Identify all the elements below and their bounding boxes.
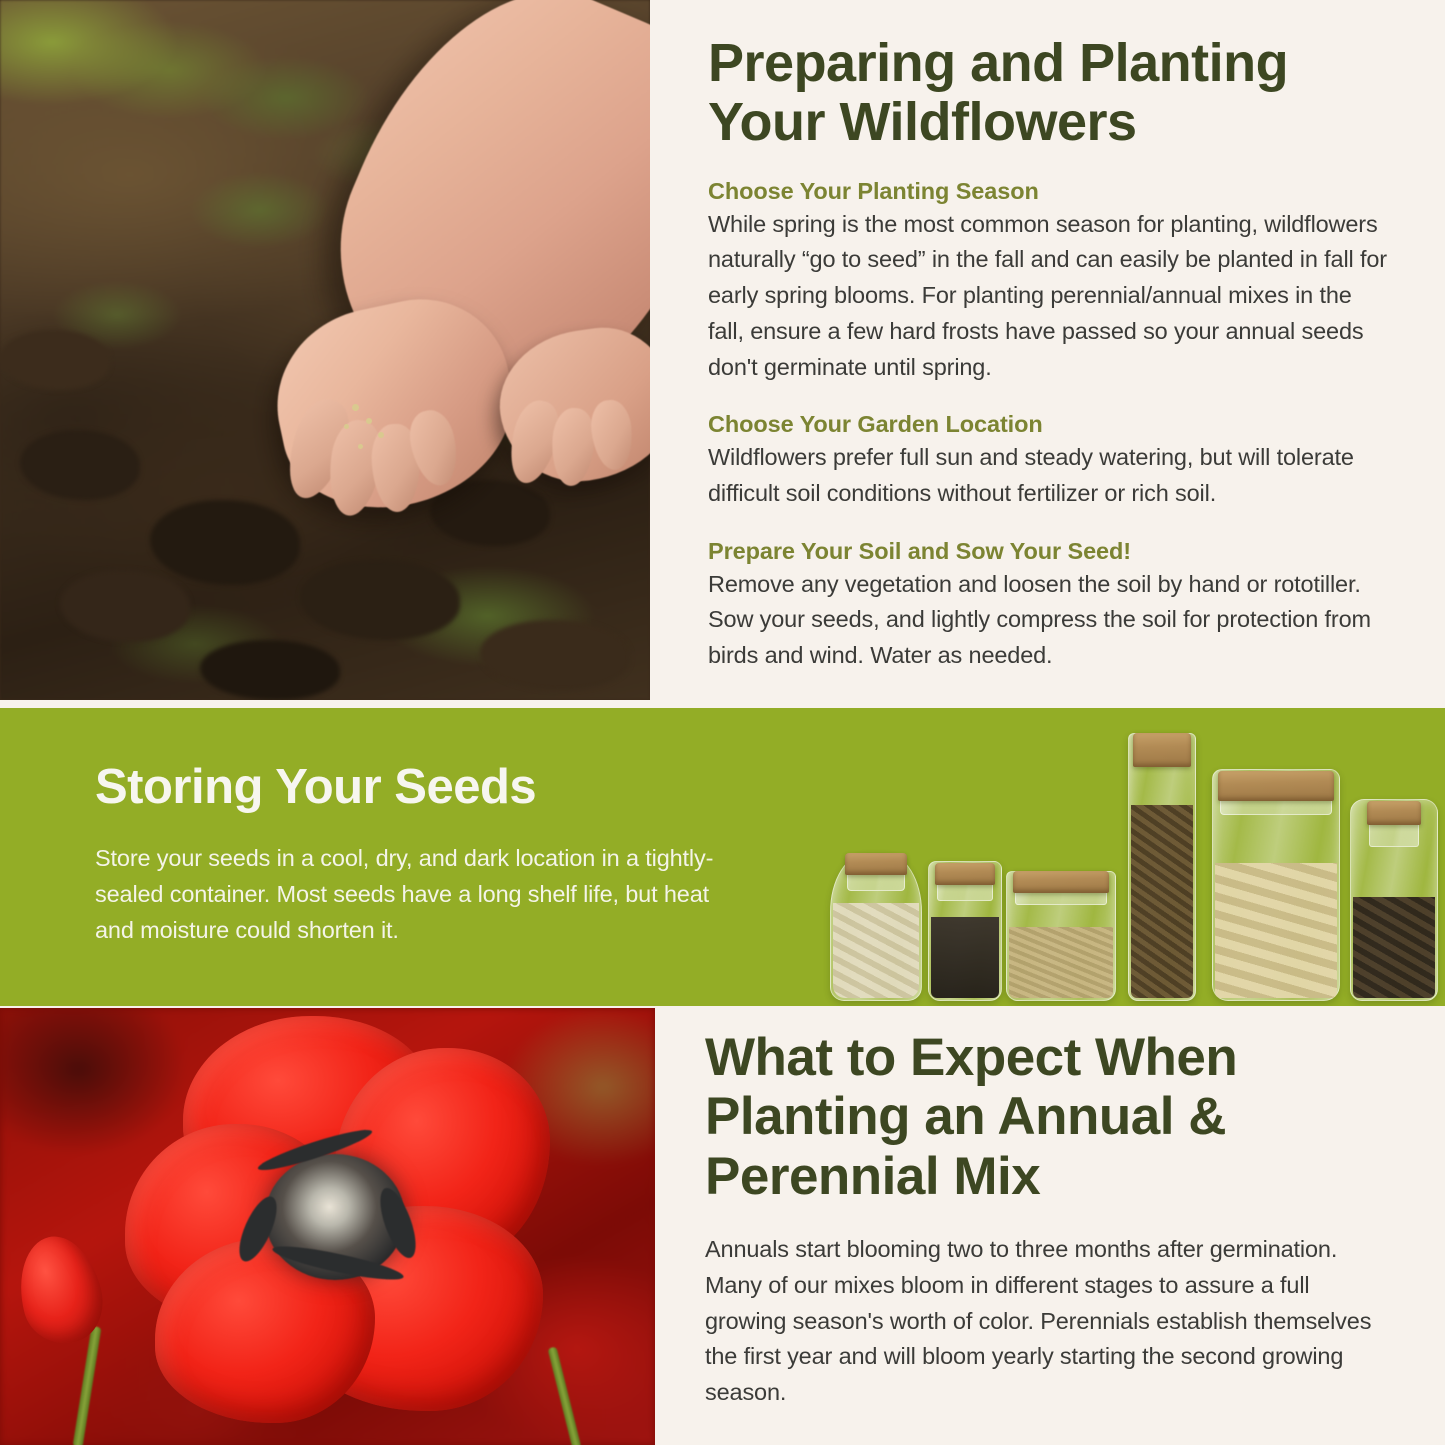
seed bbox=[344, 424, 349, 429]
seed-jar-fine-seed bbox=[1006, 871, 1116, 1001]
page-title: Preparing and Planting Your Wildflowers bbox=[708, 34, 1387, 152]
section-what-to-expect: What to Expect When Planting an Annual &… bbox=[0, 1006, 1445, 1445]
subhead-garden-location: Choose Your Garden Location bbox=[708, 411, 1387, 438]
seed bbox=[358, 444, 363, 449]
seed-jar-tall-tube bbox=[1128, 733, 1196, 1001]
body-prepare-soil: Remove any vegetation and loosen the soi… bbox=[708, 567, 1387, 674]
seed bbox=[366, 418, 372, 424]
seed-jar-dark-grain bbox=[928, 861, 1002, 1001]
section-storing-your-seeds: Storing Your Seeds Store your seeds in a… bbox=[0, 708, 1445, 1006]
subhead-planting-season: Choose Your Planting Season bbox=[708, 178, 1387, 205]
seed-jar-beans bbox=[830, 853, 922, 1001]
infographic-page: Preparing and Planting Your Wildflowers … bbox=[0, 0, 1445, 1445]
subhead-prepare-soil: Prepare Your Soil and Sow Your Seed! bbox=[708, 538, 1387, 565]
what-to-expect-body: Annuals start blooming two to three mont… bbox=[705, 1232, 1385, 1411]
storing-text-panel: Storing Your Seeds Store your seeds in a… bbox=[95, 762, 715, 949]
storing-body: Store your seeds in a cool, dry, and dar… bbox=[95, 841, 715, 948]
seed bbox=[352, 404, 359, 411]
hand-sowing-seeds-in-soil-photo bbox=[0, 0, 650, 700]
section-preparing-and-planting: Preparing and Planting Your Wildflowers … bbox=[0, 0, 1445, 708]
seed bbox=[378, 432, 384, 438]
glass-seed-storage-jars-photo bbox=[820, 722, 1420, 1006]
poppy-bloom bbox=[95, 1016, 565, 1431]
preparing-text-panel: Preparing and Planting Your Wildflowers … bbox=[650, 0, 1445, 708]
storing-title: Storing Your Seeds bbox=[95, 762, 715, 813]
seed-jar-sunflower-seeds bbox=[1350, 799, 1438, 1001]
seed-jar-pumpkin-seeds bbox=[1212, 769, 1340, 1001]
body-planting-season: While spring is the most common season f… bbox=[708, 207, 1387, 386]
body-garden-location: Wildflowers prefer full sun and steady w… bbox=[708, 440, 1387, 511]
what-to-expect-text-panel: What to Expect When Planting an Annual &… bbox=[655, 1006, 1445, 1445]
what-to-expect-title: What to Expect When Planting an Annual &… bbox=[705, 1028, 1385, 1206]
red-poppy-flower-closeup-photo bbox=[0, 1008, 655, 1445]
